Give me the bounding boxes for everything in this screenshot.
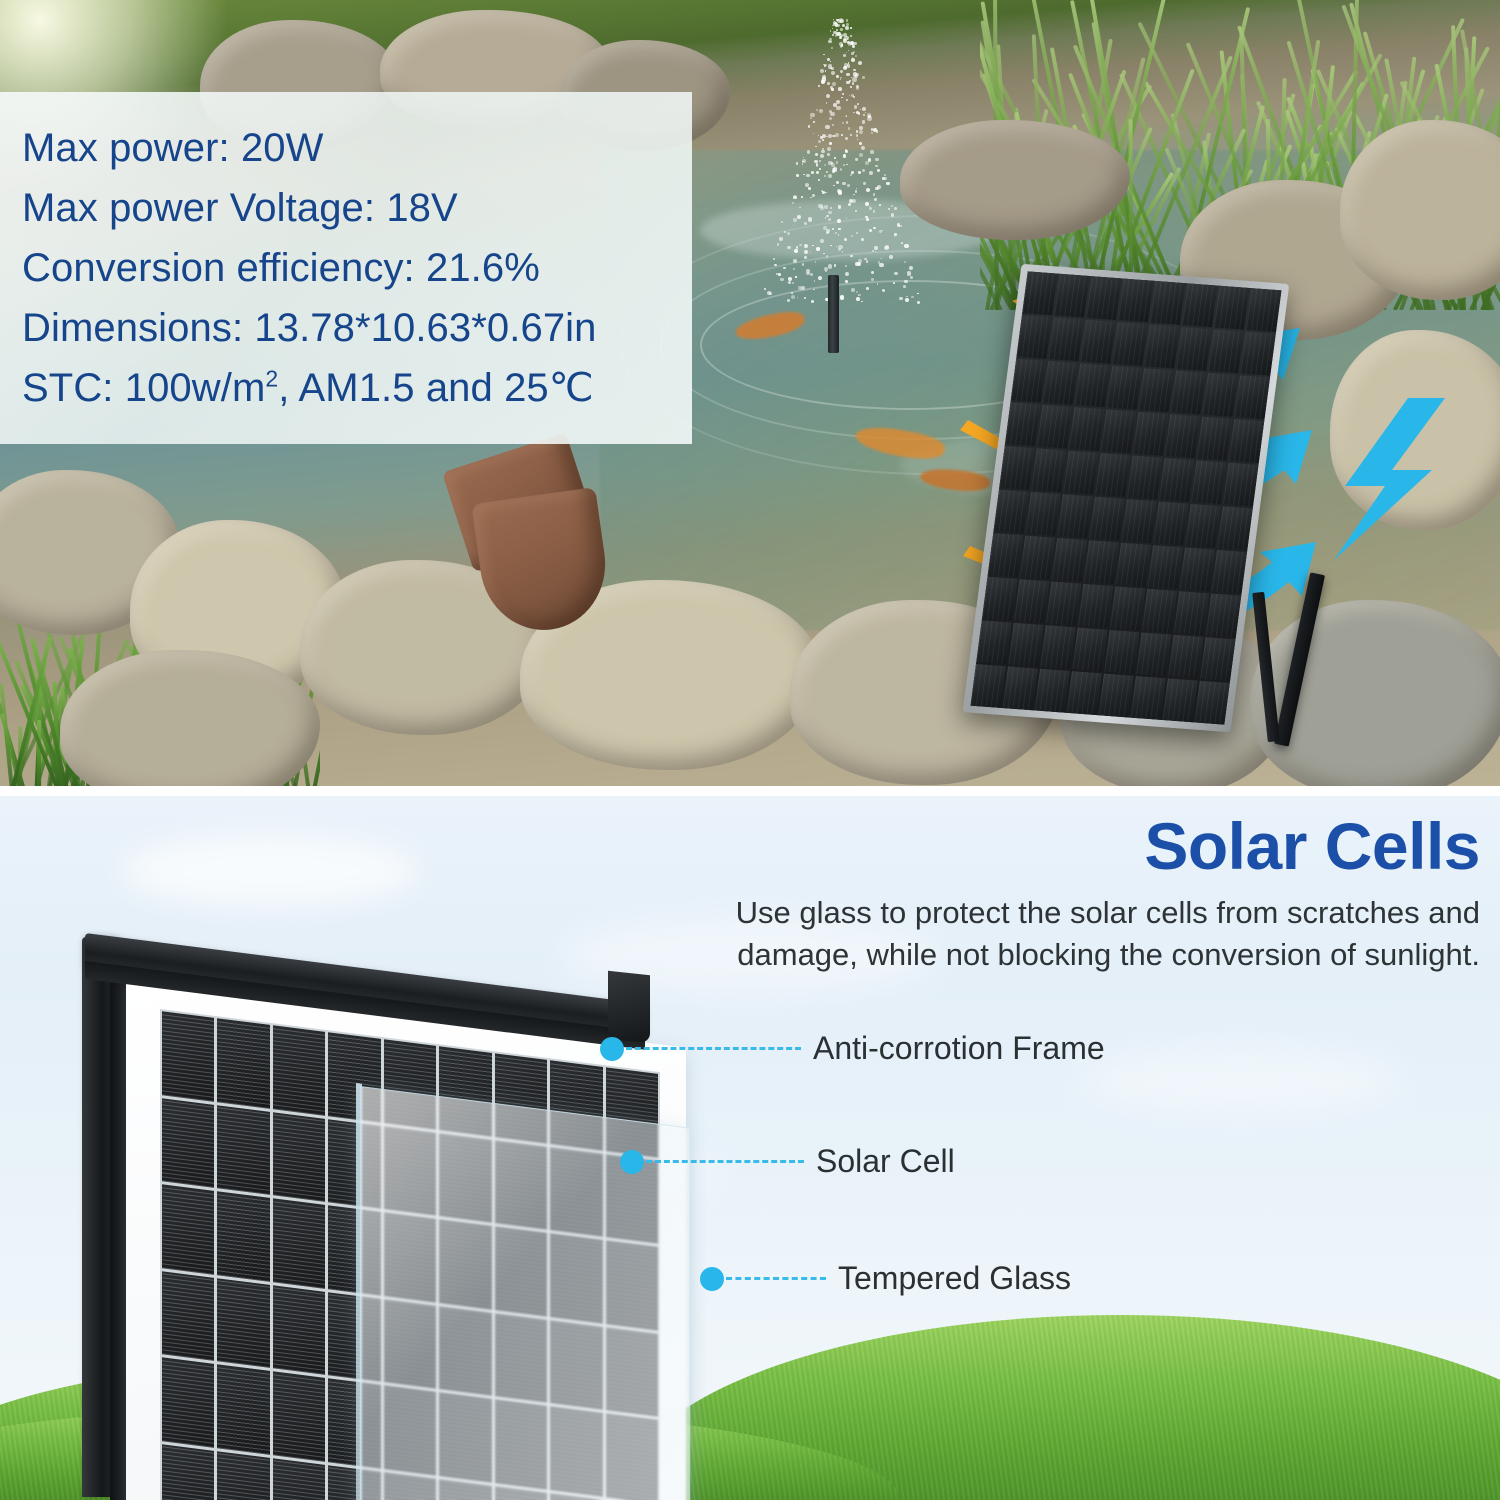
water-droplet <box>852 45 855 48</box>
water-droplet <box>871 278 873 280</box>
water-droplet <box>894 233 897 236</box>
panel-cell <box>1203 373 1238 417</box>
water-droplet <box>764 288 766 290</box>
water-droplet <box>810 117 813 120</box>
water-droplet <box>865 112 866 113</box>
panel-cell <box>1168 635 1203 679</box>
water-droplet <box>779 237 783 241</box>
water-droplet <box>812 194 815 197</box>
water-droplet <box>882 289 885 292</box>
water-droplet <box>816 247 819 250</box>
water-droplet <box>899 297 903 301</box>
water-droplet <box>850 86 852 88</box>
water-droplet <box>767 291 771 295</box>
solar-cell <box>273 1025 325 1115</box>
spec-stc-suffix: , AM1.5 and 25℃ <box>278 366 594 410</box>
water-droplet <box>853 112 855 114</box>
water-droplet <box>845 150 848 153</box>
water-droplet <box>819 160 821 162</box>
water-droplet <box>825 217 827 219</box>
water-droplet <box>855 55 857 57</box>
water-droplet <box>827 153 830 156</box>
water-droplet <box>822 139 824 141</box>
water-droplet <box>802 159 806 163</box>
water-droplet <box>829 142 832 145</box>
water-droplet <box>871 132 873 134</box>
section-title: Solar Cells <box>520 810 1480 882</box>
water-droplet <box>853 194 854 195</box>
panel-cell <box>1234 375 1269 419</box>
water-droplet <box>819 109 823 113</box>
water-droplet <box>825 70 827 72</box>
water-droplet <box>848 127 850 129</box>
panel-cell <box>1185 504 1220 548</box>
solar-cell <box>162 1271 214 1361</box>
water-droplet <box>847 38 849 40</box>
water-droplet <box>788 281 791 284</box>
panel-cell <box>1011 359 1046 403</box>
spec-stc: STC: 100w/m2, AM1.5 and 25℃ <box>22 358 674 418</box>
panel-cell <box>1246 288 1281 332</box>
water-droplet <box>814 280 816 282</box>
water-droplet <box>865 216 867 218</box>
solar-cell <box>217 1278 269 1368</box>
water-droplet <box>808 217 812 221</box>
water-droplet <box>856 297 860 301</box>
water-droplet <box>813 121 815 123</box>
panel-cell <box>1162 678 1197 722</box>
water-droplet <box>825 270 827 272</box>
callout-label: Solar Cell <box>816 1143 955 1180</box>
water-droplet <box>837 24 840 27</box>
water-droplet <box>846 121 849 124</box>
water-droplet <box>833 185 835 187</box>
panel-cell <box>1063 451 1098 495</box>
water-droplet <box>858 112 860 114</box>
panel-cell <box>1194 681 1229 725</box>
exploded-panel-diagram <box>60 911 820 1500</box>
water-droplet <box>903 285 906 288</box>
water-droplet <box>845 280 848 283</box>
solar-cell <box>217 1105 269 1195</box>
water-droplet <box>875 158 878 161</box>
water-droplet <box>879 230 882 233</box>
water-droplet <box>856 85 859 88</box>
water-droplet <box>866 188 870 192</box>
water-droplet <box>825 192 826 193</box>
water-droplet <box>868 158 872 162</box>
water-droplet <box>823 54 824 55</box>
water-droplet <box>885 245 889 249</box>
water-droplet <box>840 77 842 79</box>
water-droplet <box>830 245 832 247</box>
callout-dot-icon <box>600 1037 624 1061</box>
water-droplet <box>843 154 847 158</box>
water-droplet <box>824 164 826 166</box>
cloud <box>120 836 420 906</box>
water-droplet <box>827 147 831 151</box>
panel-cell <box>1107 366 1142 410</box>
water-droplet <box>828 211 831 214</box>
water-droplet <box>804 222 807 225</box>
product-infographic: Max power: 20W Max power Voltage: 18V Co… <box>0 0 1500 1500</box>
water-droplet <box>858 259 862 263</box>
water-droplet <box>839 42 843 46</box>
water-droplet <box>824 175 826 177</box>
water-droplet <box>917 301 920 304</box>
panel-cell <box>1020 535 1055 579</box>
callout-anti-corrosion-frame[interactable]: Anti-corrotion Frame <box>600 1030 1105 1067</box>
panel-cell <box>1037 405 1072 449</box>
water-droplet <box>869 171 873 175</box>
panel-kickstand-rear <box>1252 592 1280 742</box>
water-droplet <box>818 276 822 280</box>
water-droplet <box>845 272 849 276</box>
panel-cell <box>1127 455 1162 499</box>
water-droplet <box>828 40 832 44</box>
water-droplet <box>826 94 830 98</box>
water-droplet <box>793 196 796 199</box>
water-droplet <box>847 184 850 187</box>
solar-cell <box>217 1451 269 1500</box>
water-droplet <box>854 105 858 109</box>
water-droplet <box>840 70 843 73</box>
water-droplet <box>825 125 829 129</box>
panel-cell <box>1121 499 1156 543</box>
water-droplet <box>794 249 798 253</box>
water-droplet <box>851 58 855 62</box>
water-droplet <box>844 66 847 69</box>
water-droplet <box>826 215 829 218</box>
water-droplet <box>824 65 826 67</box>
water-droplet <box>829 117 832 120</box>
water-droplet <box>837 219 841 223</box>
panel-cell <box>1022 271 1057 315</box>
water-droplet <box>832 228 834 230</box>
water-droplet <box>904 280 908 284</box>
water-droplet <box>872 250 875 253</box>
water-droplet <box>876 130 879 133</box>
water-droplet <box>873 210 876 213</box>
water-droplet <box>850 35 852 37</box>
panel-cell <box>1150 281 1185 325</box>
panel-cell <box>1159 458 1194 502</box>
panel-cell <box>982 577 1017 621</box>
panel-cell <box>1133 412 1168 456</box>
callout-label: Anti-corrotion Frame <box>813 1030 1105 1067</box>
water-droplet <box>774 264 777 267</box>
water-droplet <box>861 301 862 302</box>
solar-cell <box>162 1444 214 1500</box>
panel-cell <box>1110 586 1145 630</box>
water-droplet <box>850 134 852 136</box>
panel-cell <box>1191 460 1226 504</box>
panel-cell <box>994 489 1029 533</box>
water-droplet <box>810 252 812 254</box>
spec-max-power: Max power: 20W <box>22 118 674 178</box>
water-droplet <box>856 134 858 136</box>
solar-cell <box>273 1371 325 1461</box>
water-droplet <box>793 259 797 263</box>
panel-cell <box>1212 550 1247 594</box>
water-droplet <box>843 54 846 57</box>
panel-cell <box>1026 492 1061 536</box>
panel-cell <box>1008 623 1043 667</box>
water-droplet <box>849 95 850 96</box>
water-droplet <box>844 238 847 241</box>
water-droplet <box>856 232 858 234</box>
water-droplet <box>804 297 806 299</box>
water-droplet <box>796 174 799 177</box>
water-droplet <box>808 125 810 127</box>
panel-cell <box>1217 506 1252 550</box>
water-droplet <box>804 250 808 254</box>
panel-cell <box>1003 666 1038 710</box>
water-droplet <box>803 174 805 176</box>
panel-cell <box>1208 329 1243 373</box>
water-droplet <box>819 168 821 170</box>
water-droplet <box>853 51 855 53</box>
spec-efficiency: Conversion efficiency: 21.6% <box>22 238 674 298</box>
callout-tempered-glass[interactable]: Tempered Glass <box>700 1260 1071 1297</box>
water-droplet <box>821 190 823 192</box>
water-droplet <box>783 267 786 270</box>
solar-cell <box>217 1191 269 1281</box>
water-droplet <box>838 234 840 236</box>
water-droplet <box>824 205 828 209</box>
water-droplet <box>860 109 861 110</box>
water-droplet <box>874 246 877 249</box>
water-droplet <box>823 253 825 255</box>
water-droplet <box>909 266 913 270</box>
callout-leader-line <box>626 1047 801 1050</box>
water-droplet <box>797 215 801 219</box>
water-droplet <box>899 225 901 227</box>
water-droplet <box>826 255 829 258</box>
water-droplet <box>793 218 796 221</box>
panel-cell <box>1086 276 1121 320</box>
top-scene-photo: Max power: 20W Max power Voltage: 18V Co… <box>0 0 1500 790</box>
water-droplet <box>808 187 811 190</box>
water-droplet <box>822 77 826 81</box>
water-droplet <box>833 23 836 26</box>
panel-cell <box>1229 419 1264 463</box>
water-droplet <box>856 291 858 293</box>
solar-cell <box>273 1198 325 1288</box>
panel-cell <box>1031 448 1066 492</box>
panel-cell <box>1200 637 1235 681</box>
panel-cell <box>1223 463 1258 507</box>
water-droplet <box>828 64 832 68</box>
water-droplet <box>804 244 808 248</box>
water-droplet <box>901 242 903 244</box>
water-droplet <box>873 193 876 196</box>
water-droplet <box>846 73 849 76</box>
water-droplet <box>818 179 820 181</box>
water-droplet <box>806 174 810 178</box>
callout-leader-line <box>646 1160 804 1163</box>
solar-cell <box>217 1018 269 1108</box>
water-droplet <box>833 135 836 138</box>
water-droplet <box>871 271 874 274</box>
water-droplet <box>813 133 815 135</box>
water-droplet <box>862 107 866 111</box>
solar-cell <box>273 1112 325 1202</box>
panel-cell <box>1080 320 1115 364</box>
water-droplet <box>850 27 852 29</box>
panel-cell <box>1040 625 1075 669</box>
water-droplet <box>845 265 847 267</box>
panel-cell <box>1130 676 1165 720</box>
water-droplet <box>852 82 854 84</box>
water-droplet <box>816 165 819 168</box>
water-droplet <box>851 288 855 292</box>
water-droplet <box>802 263 805 266</box>
water-droplet <box>813 289 815 291</box>
water-droplet <box>797 297 798 298</box>
panel-cell <box>1197 417 1232 461</box>
solar-cell <box>273 1285 325 1375</box>
solar-cell <box>217 1364 269 1454</box>
water-droplet <box>828 161 831 164</box>
water-droplet <box>846 81 849 84</box>
water-droplet <box>845 137 848 140</box>
water-droplet <box>796 246 799 249</box>
water-droplet <box>811 300 814 303</box>
panel-cell <box>1052 538 1087 582</box>
panel-cell <box>1174 591 1209 635</box>
water-droplet <box>904 261 906 263</box>
water-droplet <box>832 82 836 86</box>
water-droplet <box>818 85 820 87</box>
water-droplet <box>911 296 914 299</box>
water-droplet <box>877 169 881 173</box>
water-droplet <box>820 69 824 73</box>
water-droplet <box>882 177 885 180</box>
water-droplet <box>840 19 844 23</box>
panel-cell <box>1054 274 1089 318</box>
water-droplet <box>865 161 869 165</box>
water-droplet <box>867 116 871 120</box>
panel-cell <box>1043 361 1078 405</box>
spec-max-voltage: Max power Voltage: 18V <box>22 178 674 238</box>
water-droplet <box>842 182 845 185</box>
water-droplet <box>784 231 786 233</box>
water-droplet <box>906 296 908 298</box>
water-droplet <box>803 157 804 158</box>
water-droplet <box>905 298 909 302</box>
panel-cell <box>1017 315 1052 359</box>
panel-aluminum-frame <box>963 264 1290 732</box>
water-droplet <box>838 228 841 231</box>
water-droplet <box>855 210 857 212</box>
panel-cell <box>1118 279 1153 323</box>
water-droplet <box>870 150 874 154</box>
water-droplet <box>840 28 844 32</box>
water-droplet <box>840 168 843 171</box>
panel-cell <box>988 533 1023 577</box>
water-droplet <box>846 52 848 54</box>
callout-label: Tempered Glass <box>838 1260 1071 1297</box>
water-droplet <box>879 263 883 267</box>
water-droplet <box>846 115 848 117</box>
water-droplet <box>862 76 865 79</box>
water-droplet <box>836 246 838 248</box>
water-droplet <box>891 213 894 216</box>
water-droplet <box>855 158 858 161</box>
water-droplet <box>851 171 854 174</box>
water-droplet <box>830 61 831 62</box>
water-droplet <box>822 134 826 138</box>
water-droplet <box>781 221 784 224</box>
water-droplet <box>846 23 849 26</box>
water-droplet <box>857 139 859 141</box>
frame-left-inner <box>110 953 126 1500</box>
water-droplet <box>862 169 865 172</box>
panel-cell <box>1206 594 1241 638</box>
water-droplet <box>840 295 844 299</box>
water-droplet <box>827 82 830 85</box>
water-droplet <box>875 187 878 190</box>
water-droplet <box>815 261 817 263</box>
water-droplet <box>834 157 836 159</box>
water-droplet <box>831 47 833 49</box>
water-droplet <box>838 87 842 91</box>
water-droplet <box>842 251 843 252</box>
water-droplet <box>791 292 792 293</box>
callout-solar-cell[interactable]: Solar Cell <box>620 1143 955 1180</box>
water-droplet <box>877 283 878 284</box>
water-droplet <box>846 218 847 219</box>
panel-cell <box>1034 669 1069 713</box>
water-droplet <box>841 134 843 136</box>
water-droplet <box>893 282 895 284</box>
panel-cell <box>1176 327 1211 371</box>
panel-cell <box>1098 674 1133 718</box>
solar-cell <box>162 1357 214 1447</box>
water-droplet <box>818 140 821 143</box>
panel-cell <box>1165 414 1200 458</box>
water-droplet <box>894 236 895 237</box>
water-droplet <box>875 165 878 168</box>
water-droplet <box>888 208 890 210</box>
panel-cell <box>1116 543 1151 587</box>
water-droplet <box>799 207 800 208</box>
panel-cell <box>1075 363 1110 407</box>
panel-cell <box>1101 409 1136 453</box>
water-droplet <box>801 196 803 198</box>
panel-cell <box>1214 286 1249 330</box>
water-droplet <box>869 207 872 210</box>
water-droplet <box>815 153 818 156</box>
spec-dimensions: Dimensions: 13.78*10.63*0.67in <box>22 298 674 358</box>
water-droplet <box>780 278 784 282</box>
solar-cell <box>162 1011 214 1101</box>
water-droplet <box>831 71 835 75</box>
panel-kickstand <box>1274 572 1325 746</box>
water-droplet <box>858 61 862 65</box>
water-droplet <box>848 203 851 206</box>
water-droplet <box>793 268 794 269</box>
water-droplet <box>823 226 827 230</box>
panel-cell <box>1153 501 1188 545</box>
section-divider <box>0 786 1500 796</box>
water-droplet <box>856 130 859 133</box>
water-droplet <box>777 243 780 246</box>
water-droplet <box>836 75 839 78</box>
water-droplet <box>858 171 861 174</box>
water-droplet <box>836 106 840 110</box>
